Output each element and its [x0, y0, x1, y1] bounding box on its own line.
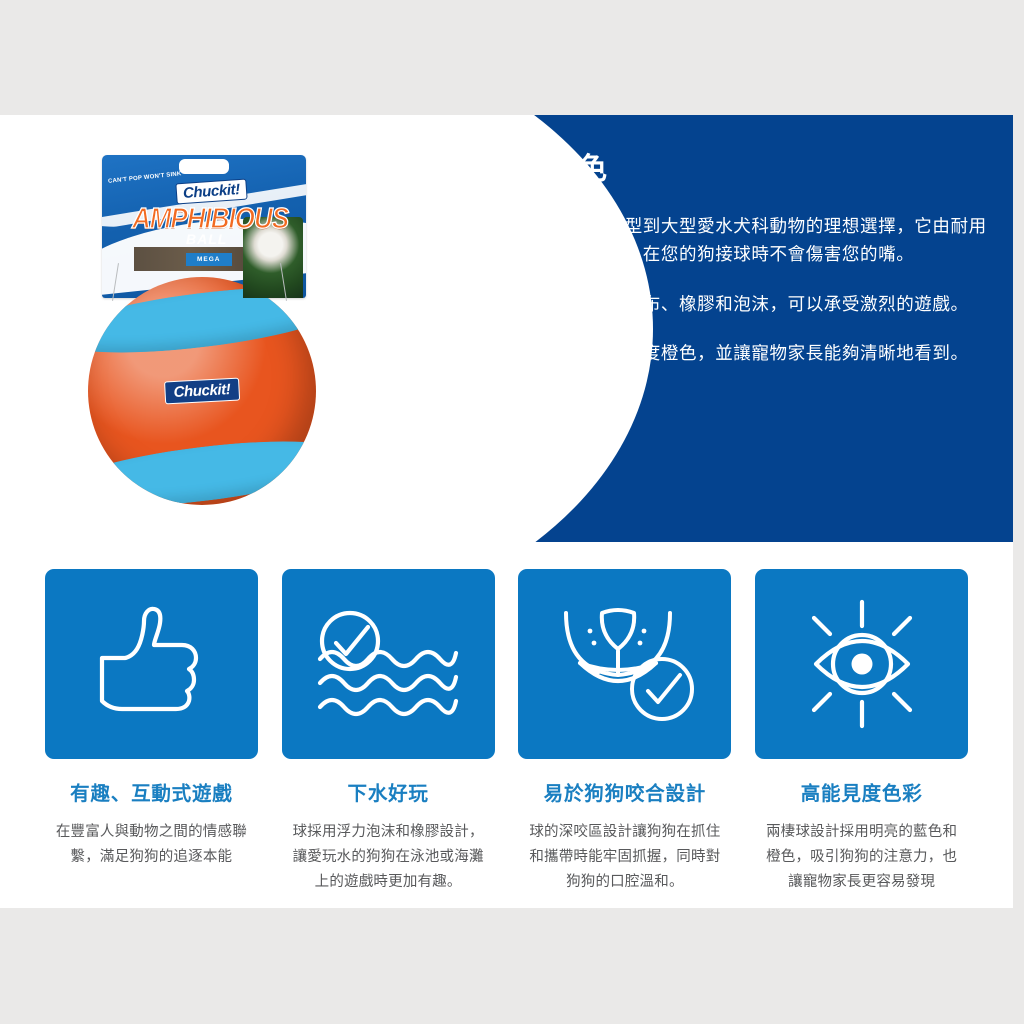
- dog-muzzle-check-icon: [550, 601, 700, 727]
- feature-icon-tile: [45, 569, 258, 759]
- feature-column: 有趣、互動式遊戲 在豐富人與動物之間的情感聯繫，滿足狗狗的追逐本能: [44, 569, 259, 908]
- bullet-item: 2. 用的結構結合了帆布、橡膠和泡沫，可以承受激烈的遊戲。: [478, 290, 998, 318]
- page-title: 產品特色: [478, 153, 998, 186]
- package-size-badge: MEGA: [186, 253, 232, 266]
- bullet-number: 2.: [478, 290, 498, 318]
- hero-section: CAN'T POP WON'T SINK Chuckit! AMPHIBIOUS…: [0, 115, 1013, 542]
- feature-heading: 高能見度色彩: [801, 783, 923, 806]
- feature-icon-column: 易於狗狗咬合設計 球的深咬區設計讓狗狗在抓住和攜帶時能牢固抓握，同時對狗狗的口腔…: [518, 569, 733, 908]
- product-ball: Chuckit!: [88, 277, 316, 505]
- feature-heading: 下水好玩: [348, 783, 429, 806]
- product-feature-page: CAN'T POP WON'T SINK Chuckit! AMPHIBIOUS…: [0, 0, 1024, 1024]
- package-tagline: CAN'T POP WON'T SINK: [108, 171, 182, 186]
- feature-column: 下水好玩 球採用浮力泡沫和橡膠設計，讓愛玩水的狗狗在泳池或海灘上的遊戲時更加有趣…: [281, 569, 496, 908]
- feature-bullet-list: 1. 兩棲巨型球是中型到大型愛水犬科動物的理想選擇，它由耐用的輕質材料製成，在您…: [478, 212, 998, 367]
- bullet-number: 3.: [478, 339, 498, 367]
- feature-description: 球採用浮力泡沫和橡膠設計，讓愛玩水的狗狗在泳池或海灘上的遊戲時更加有趣。: [286, 820, 491, 895]
- ball-brand-logo: Chuckit!: [164, 378, 240, 405]
- feature-icon-tile: [755, 569, 968, 759]
- water-waves-check-icon: [312, 601, 464, 727]
- bullet-text: 用的結構結合了帆布、橡膠和泡沫，可以承受激烈的遊戲。: [498, 290, 998, 318]
- features-section: 有趣、互動式遊戲 在豐富人與動物之間的情感聯繫，滿足狗狗的追逐本能 下水好玩 球…: [0, 542, 1013, 908]
- feature-description: 球的深咬區設計讓狗狗在抓住和攜帶時能牢固抓握，同時對狗狗的口腔溫和。: [522, 820, 727, 895]
- feature-heading: 有趣、互動式遊戲: [70, 783, 232, 806]
- bullet-number: 1.: [478, 212, 498, 240]
- package-hang-hole: [179, 159, 229, 174]
- feature-description: 兩棲球設計採用明亮的藍色和橙色，吸引狗狗的注意力，也讓寵物家長更容易發現: [759, 820, 964, 895]
- ball-band-bottom: [88, 429, 316, 505]
- feature-icon-tile: [518, 569, 731, 759]
- bullet-item: 1. 兩棲巨型球是中型到大型愛水犬科動物的理想選擇，它由耐用的輕質材料製成，在您…: [478, 212, 998, 269]
- bright-eye-icon: [792, 596, 932, 732]
- package-product-type: BALL: [186, 231, 227, 247]
- feature-icon-tile: [282, 569, 495, 759]
- bullet-item: 3. 充滿活力的高能見度橙色，並讓寵物家長能夠清晰地看到。: [478, 339, 998, 367]
- bullet-text: 兩棲巨型球是中型到大型愛水犬科動物的理想選擇，它由耐用的輕質材料製成，在您的狗接…: [498, 212, 998, 269]
- product-image: CAN'T POP WON'T SINK Chuckit! AMPHIBIOUS…: [78, 155, 328, 505]
- feature-description: 在豐富人與動物之間的情感聯繫，滿足狗狗的追逐本能: [49, 820, 254, 870]
- bullet-text: 充滿活力的高能見度橙色，並讓寵物家長能夠清晰地看到。: [498, 339, 998, 367]
- feature-column: 高能見度色彩 兩棲球設計採用明亮的藍色和橙色，吸引狗狗的注意力，也讓寵物家長更容…: [754, 569, 969, 908]
- thumbs-up-icon: [92, 601, 210, 727]
- feature-heading: 易於狗狗咬合設計: [544, 783, 706, 806]
- hero-text-block: 產品特色 1. 兩棲巨型球是中型到大型愛水犬科動物的理想選擇，它由耐用的輕質材料…: [478, 153, 998, 367]
